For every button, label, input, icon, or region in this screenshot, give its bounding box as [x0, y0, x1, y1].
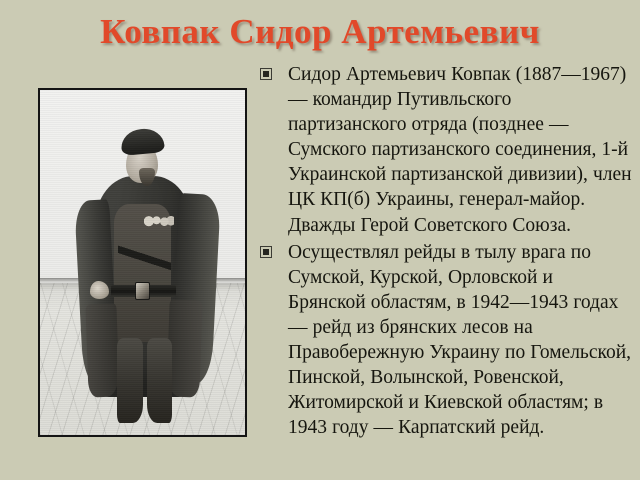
bullet-item: Сидор Артемьевич Ковпак (1887—1967) — ко…: [256, 62, 634, 238]
boot-left: [117, 338, 143, 423]
hand: [90, 281, 108, 299]
presentation-slide: Ковпак Сидор Артемьевич: [0, 0, 640, 480]
papakha-hat: [120, 127, 165, 155]
bullet-item: Осуществлял рейды в тылу врага по Сумско…: [256, 240, 634, 441]
body-text-block: Сидор Артемьевич Ковпак (1887—1967) — ко…: [256, 62, 634, 442]
boot-right: [147, 338, 173, 423]
bullet-text: Осуществлял рейды в тылу врага по Сумско…: [288, 240, 634, 441]
portrait-photo: [38, 88, 247, 437]
belt-buckle: [135, 282, 149, 301]
bullet-text: Сидор Артемьевич Ковпак (1887—1967) — ко…: [288, 62, 634, 238]
square-bullet-icon: [260, 68, 272, 80]
overcoat-tail-left: [86, 303, 120, 397]
slide-title: Ковпак Сидор Артемьевич: [0, 10, 640, 54]
figure-group: [40, 90, 245, 435]
square-bullet-icon: [260, 246, 272, 258]
photo-canvas: [40, 90, 245, 435]
